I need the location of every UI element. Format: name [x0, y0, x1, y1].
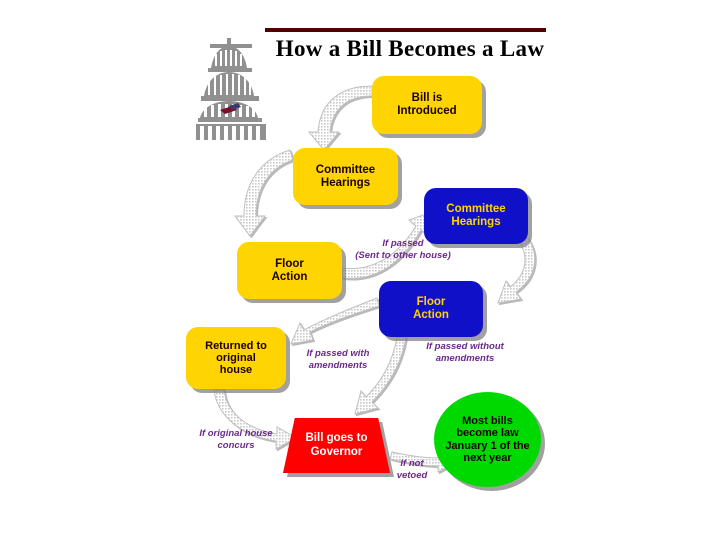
- node-label: Bill is Introduced: [397, 92, 456, 118]
- node-label-line2: Hearings: [451, 216, 500, 228]
- caption-line2: amendments: [309, 360, 368, 371]
- caption-if-passed-with-amendments: If passed with amendments: [288, 348, 388, 372]
- caption-line1: If original house: [199, 428, 272, 439]
- caption-line2: amendments: [436, 353, 495, 364]
- caption-line1: If passed: [382, 238, 423, 249]
- caption-line1: If passed with: [307, 348, 370, 359]
- caption-if-passed-other-house: If passed (Sent to other house): [338, 238, 468, 262]
- node-label: Floor Action: [272, 258, 308, 284]
- node-becomes-law[interactable]: Most bills become law January 1 of the n…: [434, 392, 541, 487]
- node-label: Committee Hearings: [446, 203, 505, 229]
- node-committee-hearings-2[interactable]: Committee Hearings: [424, 188, 528, 244]
- node-label-line1: Committee: [446, 203, 505, 215]
- node-label-line2: Action: [272, 271, 308, 283]
- node-label: Returned to original house: [205, 340, 267, 377]
- node-committee-hearings-1[interactable]: Committee Hearings: [293, 148, 398, 205]
- node-label-line1: Bill goes to: [306, 432, 368, 444]
- node-returned-to-original-house[interactable]: Returned to original house: [186, 327, 286, 389]
- node-label-line2: Action: [413, 309, 449, 321]
- node-label-line1: Floor: [417, 296, 446, 308]
- node-label: Most bills become law January 1 of the n…: [442, 415, 533, 464]
- node-label-line1: Bill is: [412, 92, 443, 104]
- node-label-line2: Introduced: [397, 105, 456, 117]
- caption-line2: concurs: [218, 440, 255, 451]
- caption-if-original-house-concurs: If original house concurs: [180, 428, 292, 452]
- node-label-line1: Returned to: [205, 340, 267, 352]
- caption-line2: (Sent to other house): [355, 250, 451, 261]
- capitol-dome-image: [196, 38, 266, 140]
- node-label-line2: Governor: [311, 446, 363, 458]
- arrow-committee2-to-floor2: [498, 238, 535, 303]
- caption-if-not-vetoed: If not vetoed: [385, 458, 439, 482]
- node-bill-goes-to-governor[interactable]: Bill goes to Governor: [283, 418, 390, 473]
- node-label-line1: Committee: [316, 164, 375, 176]
- arrow-committee1-to-floor1: [235, 150, 293, 236]
- caption-line1: If passed without: [426, 341, 504, 352]
- node-label-line2: Hearings: [321, 177, 370, 189]
- arrow-intro-to-committee1: [309, 86, 372, 150]
- node-label-line2: original: [216, 352, 256, 364]
- caption-line2: vetoed: [397, 470, 428, 481]
- node-label: Bill goes to Governor: [283, 418, 390, 473]
- arrow-floor2-to-returned: [291, 298, 379, 344]
- node-bill-introduced[interactable]: Bill is Introduced: [372, 76, 482, 134]
- node-floor-action-1[interactable]: Floor Action: [237, 242, 342, 299]
- node-label-line3: house: [220, 364, 252, 376]
- title-rule: [265, 28, 546, 32]
- caption-line1: If not: [400, 458, 423, 469]
- slide-canvas: How a Bill Becomes a Law Bill is Introdu…: [0, 0, 720, 540]
- node-label: Floor Action: [413, 296, 449, 322]
- page-title: How a Bill Becomes a Law: [265, 36, 555, 62]
- node-label: Committee Hearings: [316, 164, 375, 190]
- caption-if-passed-without-amendments: If passed without amendments: [410, 341, 520, 365]
- node-label-line1: Floor: [275, 258, 304, 270]
- node-floor-action-2[interactable]: Floor Action: [379, 281, 483, 337]
